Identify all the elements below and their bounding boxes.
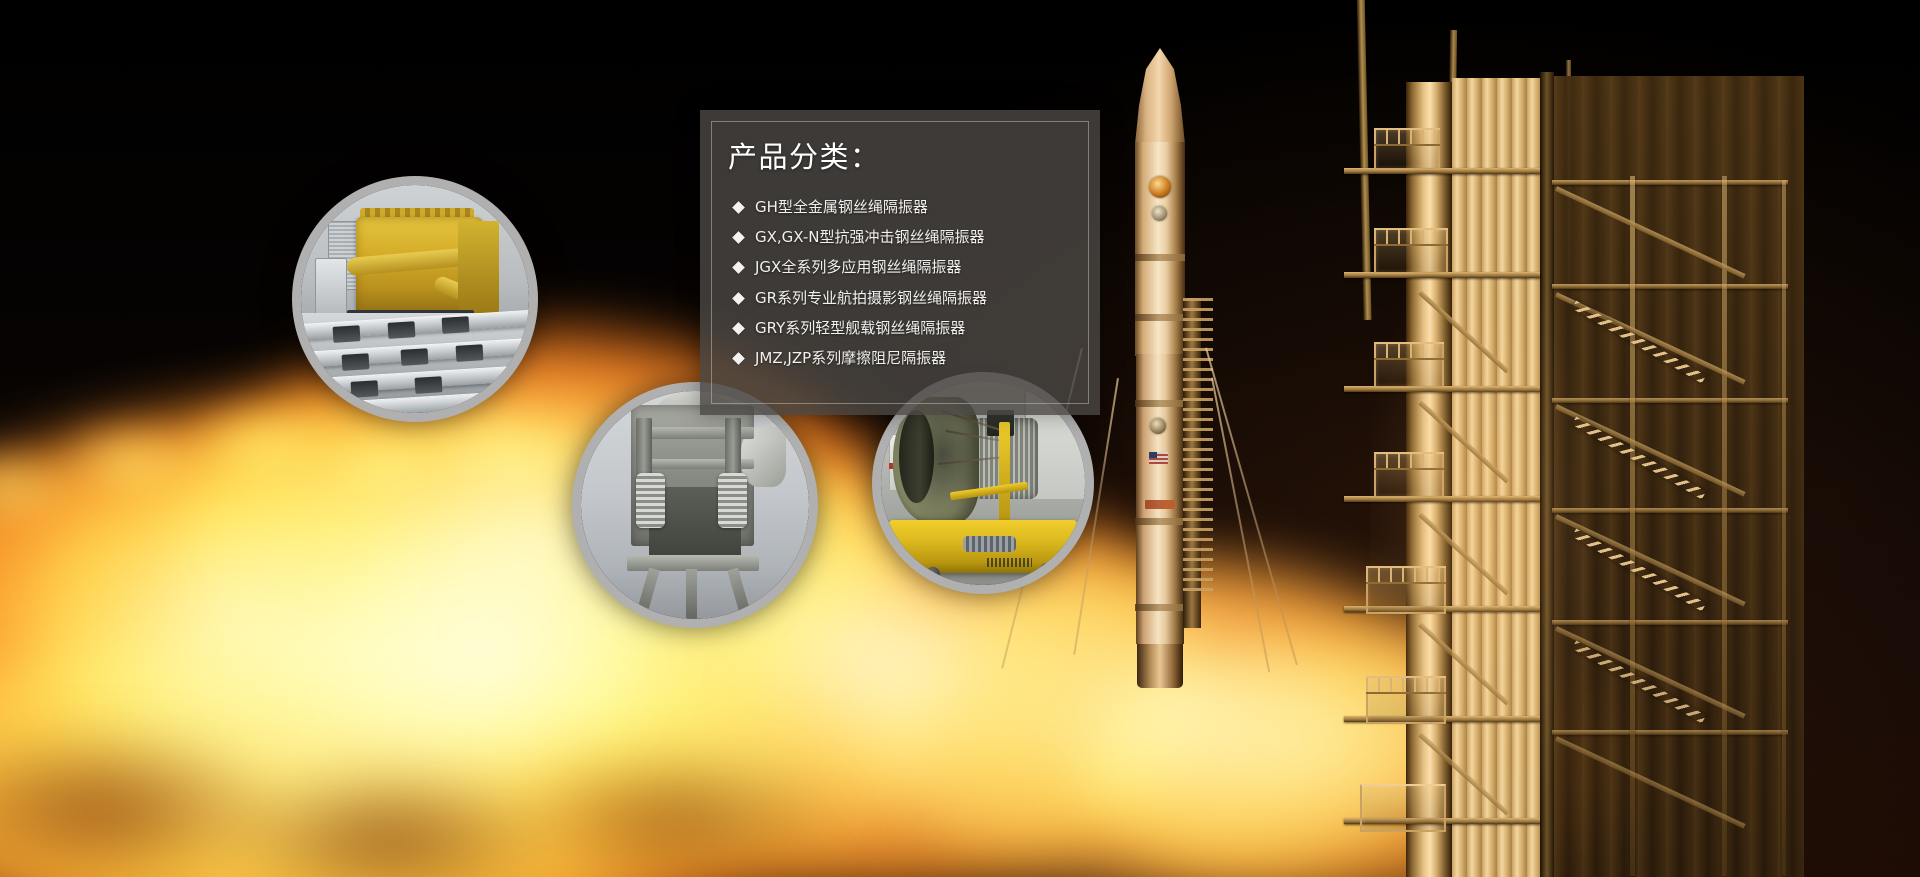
wire-rope-spring bbox=[963, 536, 1016, 552]
diamond-bullet-icon bbox=[732, 292, 745, 305]
launch-gantry-tower bbox=[1330, 0, 1770, 877]
photo-diesel-generator-set[interactable] bbox=[292, 176, 538, 422]
usa-flag-icon bbox=[1149, 452, 1168, 464]
diamond-bullet-icon bbox=[732, 262, 745, 275]
list-item[interactable]: GR系列专业航拍摄影钢丝绳隔振器 bbox=[726, 289, 1074, 308]
mission-patch-icon bbox=[1149, 176, 1171, 198]
diamond-bullet-icon bbox=[732, 201, 745, 214]
product-category-panel: 产品分类： GH型全金属钢丝绳隔振器 GX,GX-N型抗强冲击钢丝绳隔振器 JG… bbox=[700, 110, 1100, 415]
rocket-logo bbox=[1145, 500, 1175, 509]
page-title: 产品分类： bbox=[728, 134, 1074, 176]
mission-patch-icon bbox=[1150, 418, 1166, 434]
category-label: GRY系列轻型舰载钢丝绳隔振器 bbox=[755, 319, 965, 338]
banner-stage: 产品分类： GH型全金属钢丝绳隔振器 GX,GX-N型抗强冲击钢丝绳隔振器 JG… bbox=[0, 0, 1920, 877]
umbilical-lines bbox=[1183, 298, 1213, 598]
diamond-bullet-icon bbox=[732, 352, 745, 365]
photo-wire-rope-isolator-mount[interactable] bbox=[572, 382, 818, 628]
mission-patch-icon bbox=[1152, 206, 1167, 221]
category-label: JMZ,JZP系列摩擦阻尼隔振器 bbox=[755, 349, 946, 368]
category-label: GH型全金属钢丝绳隔振器 bbox=[755, 198, 928, 217]
rocket-nose-cone bbox=[1135, 48, 1185, 144]
delta-rocket bbox=[1127, 48, 1193, 688]
diamond-bullet-icon bbox=[732, 322, 745, 335]
list-item[interactable]: GH型全金属钢丝绳隔振器 bbox=[726, 198, 1074, 217]
list-item[interactable]: GRY系列轻型舰载钢丝绳隔振器 bbox=[726, 319, 1074, 338]
list-item[interactable]: GX,GX-N型抗强冲击钢丝绳隔振器 bbox=[726, 228, 1074, 247]
wire-rope-coil bbox=[636, 473, 666, 528]
category-label: GX,GX-N型抗强冲击钢丝绳隔振器 bbox=[755, 228, 984, 247]
product-category-list: GH型全金属钢丝绳隔振器 GX,GX-N型抗强冲击钢丝绳隔振器 JGX全系列多应… bbox=[726, 198, 1074, 368]
list-item[interactable]: JMZ,JZP系列摩擦阻尼隔振器 bbox=[726, 349, 1074, 368]
category-label: JGX全系列多应用钢丝绳隔振器 bbox=[755, 258, 961, 277]
diamond-bullet-icon bbox=[732, 231, 745, 244]
list-item[interactable]: JGX全系列多应用钢丝绳隔振器 bbox=[726, 258, 1074, 277]
wire-rope-coil bbox=[718, 473, 748, 528]
tower-platform bbox=[1360, 784, 1446, 832]
category-label: GR系列专业航拍摄影钢丝绳隔振器 bbox=[755, 289, 987, 308]
